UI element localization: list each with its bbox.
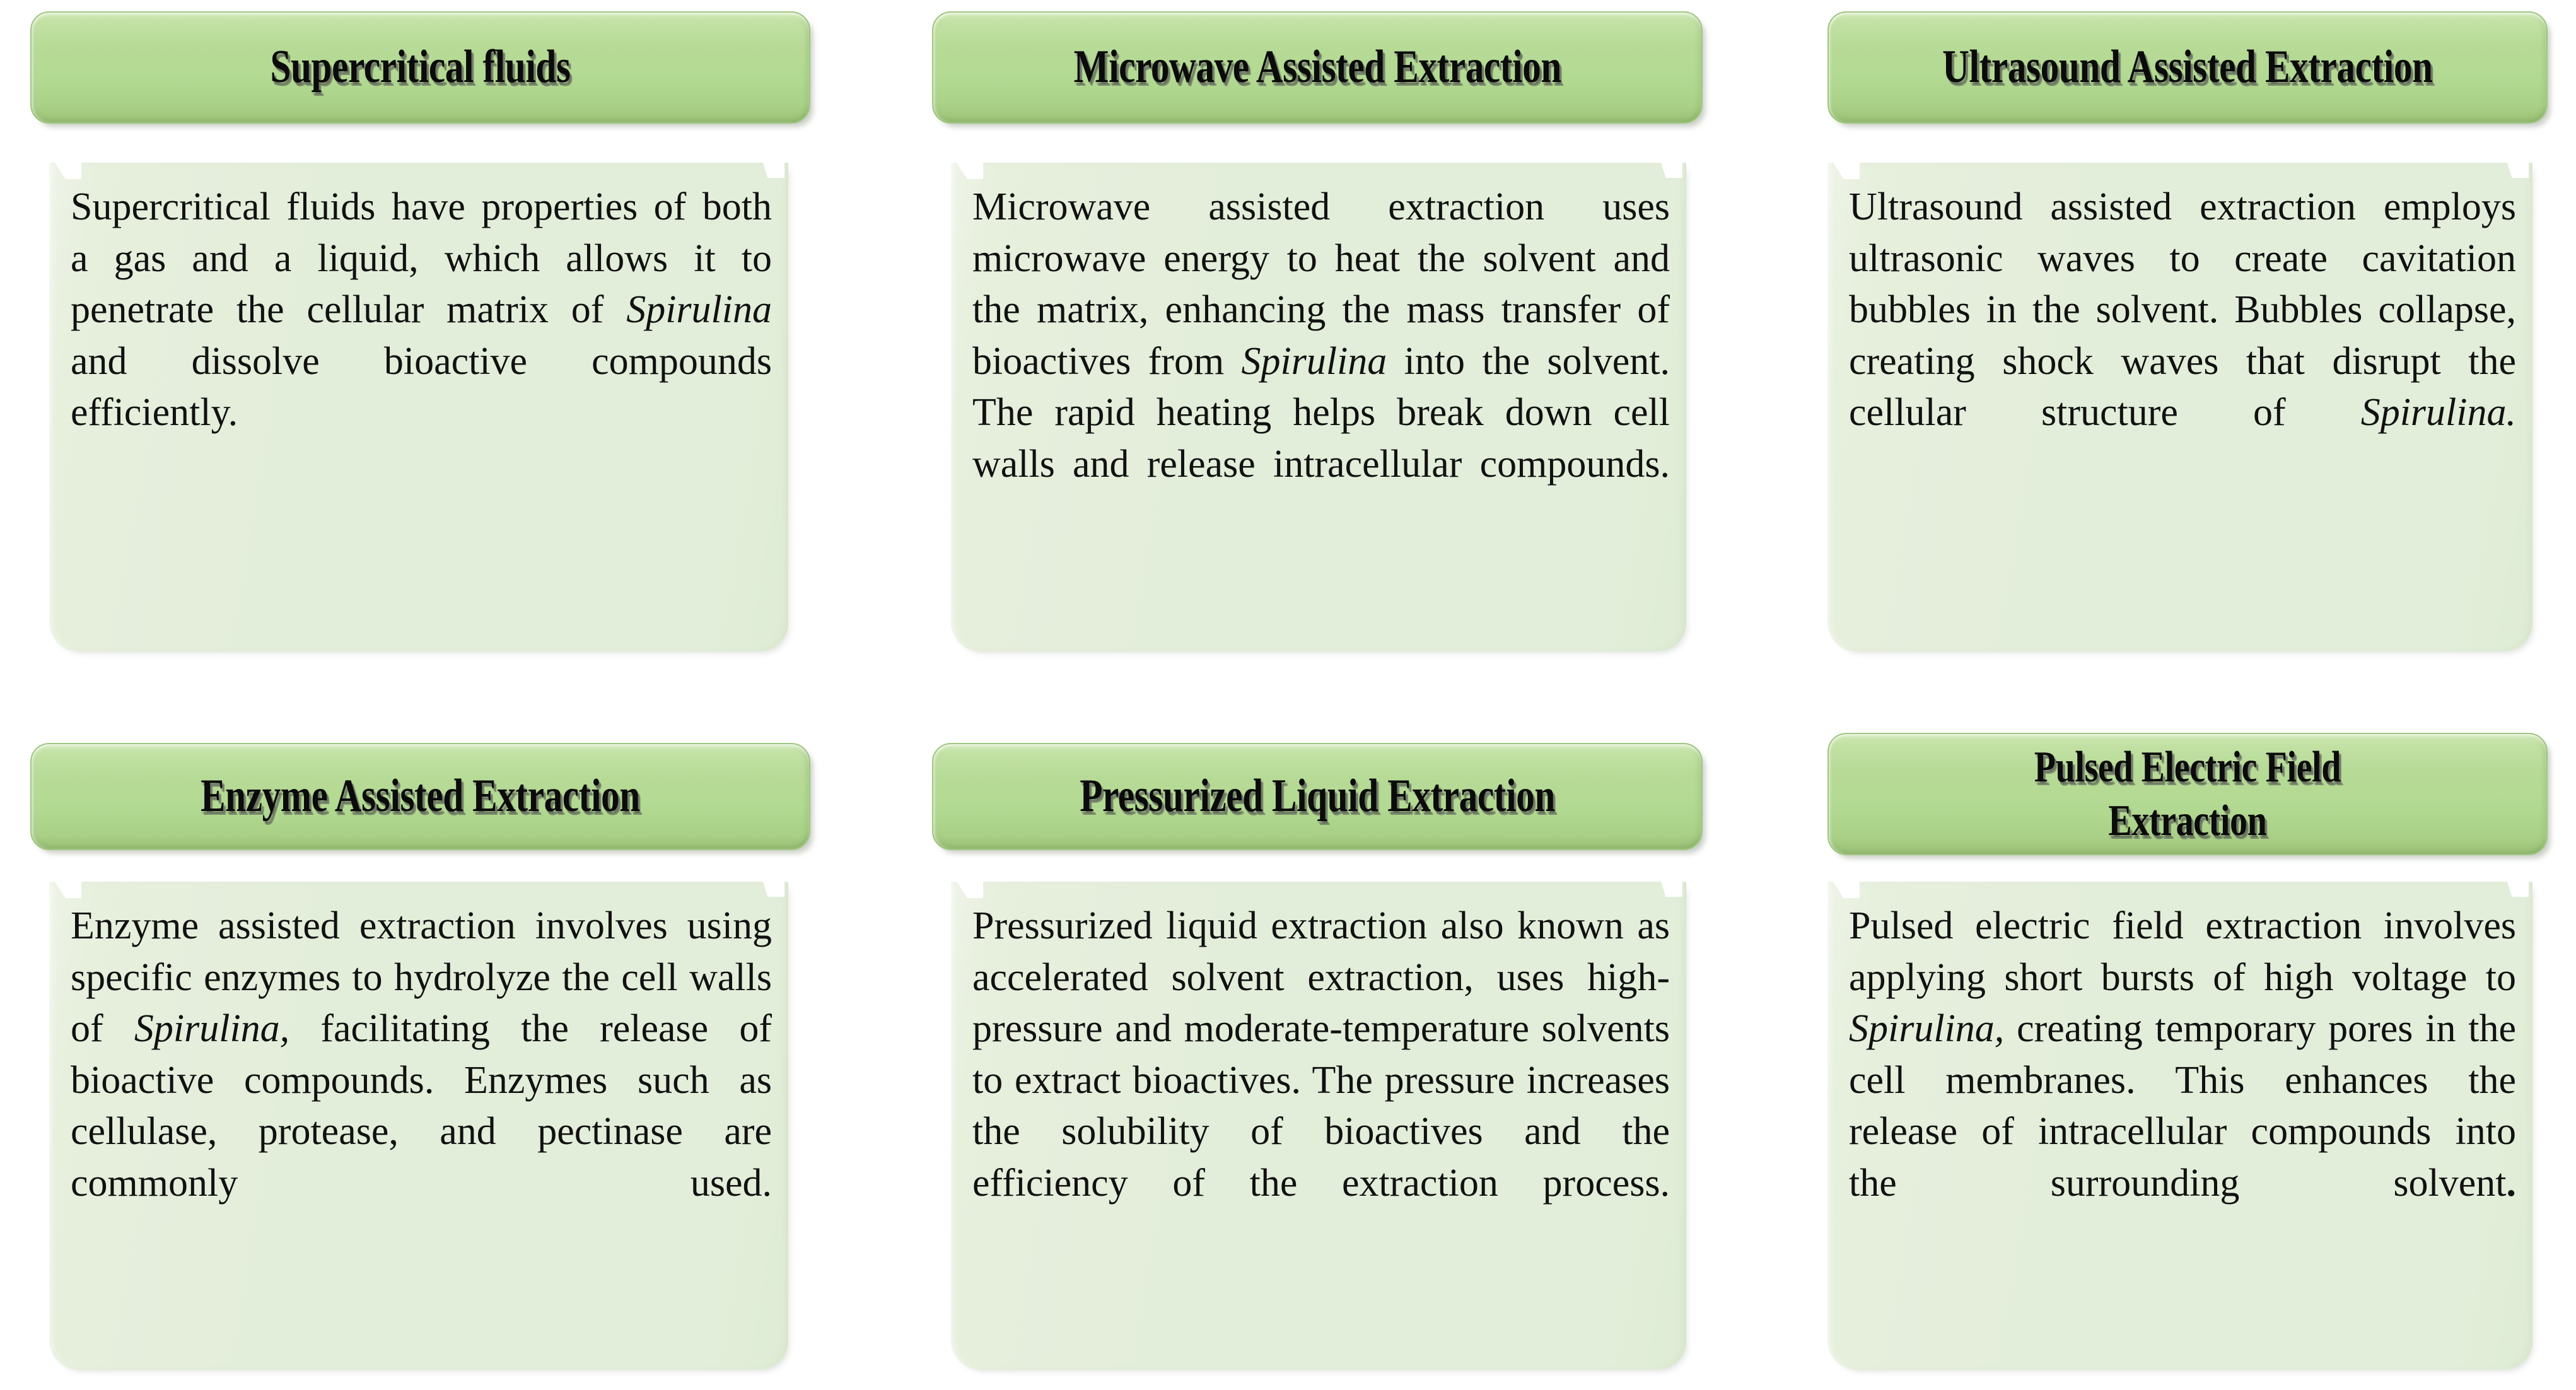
card-title: Microwave Assisted Extraction xyxy=(1073,42,1561,93)
card-header-ultrasound-assisted-extraction[interactable]: Ultrasound Assisted Extraction xyxy=(1827,11,2548,124)
card-body-text: Microwave assisted extraction uses micro… xyxy=(972,182,1670,542)
card-title: Supercritical fluids xyxy=(270,42,570,93)
card-header-supercritical-fluids[interactable]: Supercritical fluids xyxy=(30,11,810,124)
card-title: Pressurized Liquid Extraction xyxy=(1080,771,1555,822)
card-body-pulsed-electric-field-extraction: Pulsed electric field extraction involve… xyxy=(1827,882,2532,1370)
card-body-text: Ultrasound assisted extraction employs u… xyxy=(1849,182,2516,490)
card-title: Ultrasound Assisted Extraction xyxy=(1942,42,2432,93)
card-body-text: Supercritical fluids have properties of … xyxy=(71,182,772,490)
card-body-text: Pressurized liquid extraction also known… xyxy=(972,901,1670,1261)
card-body-pressurized-liquid-extraction: Pressurized liquid extraction also known… xyxy=(951,882,1686,1370)
card-body-ultrasound-assisted-extraction: Ultrasound assisted extraction employs u… xyxy=(1827,163,2532,651)
method-card-grid: Supercritical fluids Supercritical fluid… xyxy=(0,0,2576,1390)
card-body-microwave-assisted-extraction: Microwave assisted extraction uses micro… xyxy=(951,163,1686,651)
card-header-pressurized-liquid-extraction[interactable]: Pressurized Liquid Extraction xyxy=(932,743,1703,850)
card-title: Pulsed Electric Field Extraction xyxy=(2034,740,2341,848)
card-title: Enzyme Assisted Extraction xyxy=(201,771,640,822)
card-header-microwave-assisted-extraction[interactable]: Microwave Assisted Extraction xyxy=(932,11,1703,124)
card-body-text: Enzyme assisted extraction involves usin… xyxy=(71,901,772,1261)
card-body-text: Pulsed electric field extraction involve… xyxy=(1849,901,2516,1261)
card-body-supercritical-fluids: Supercritical fluids have properties of … xyxy=(49,163,788,651)
card-header-enzyme-assisted-extraction[interactable]: Enzyme Assisted Extraction xyxy=(30,743,810,850)
card-header-pulsed-electric-field-extraction[interactable]: Pulsed Electric Field Extraction xyxy=(1827,733,2548,855)
card-body-enzyme-assisted-extraction: Enzyme assisted extraction involves usin… xyxy=(49,882,788,1370)
